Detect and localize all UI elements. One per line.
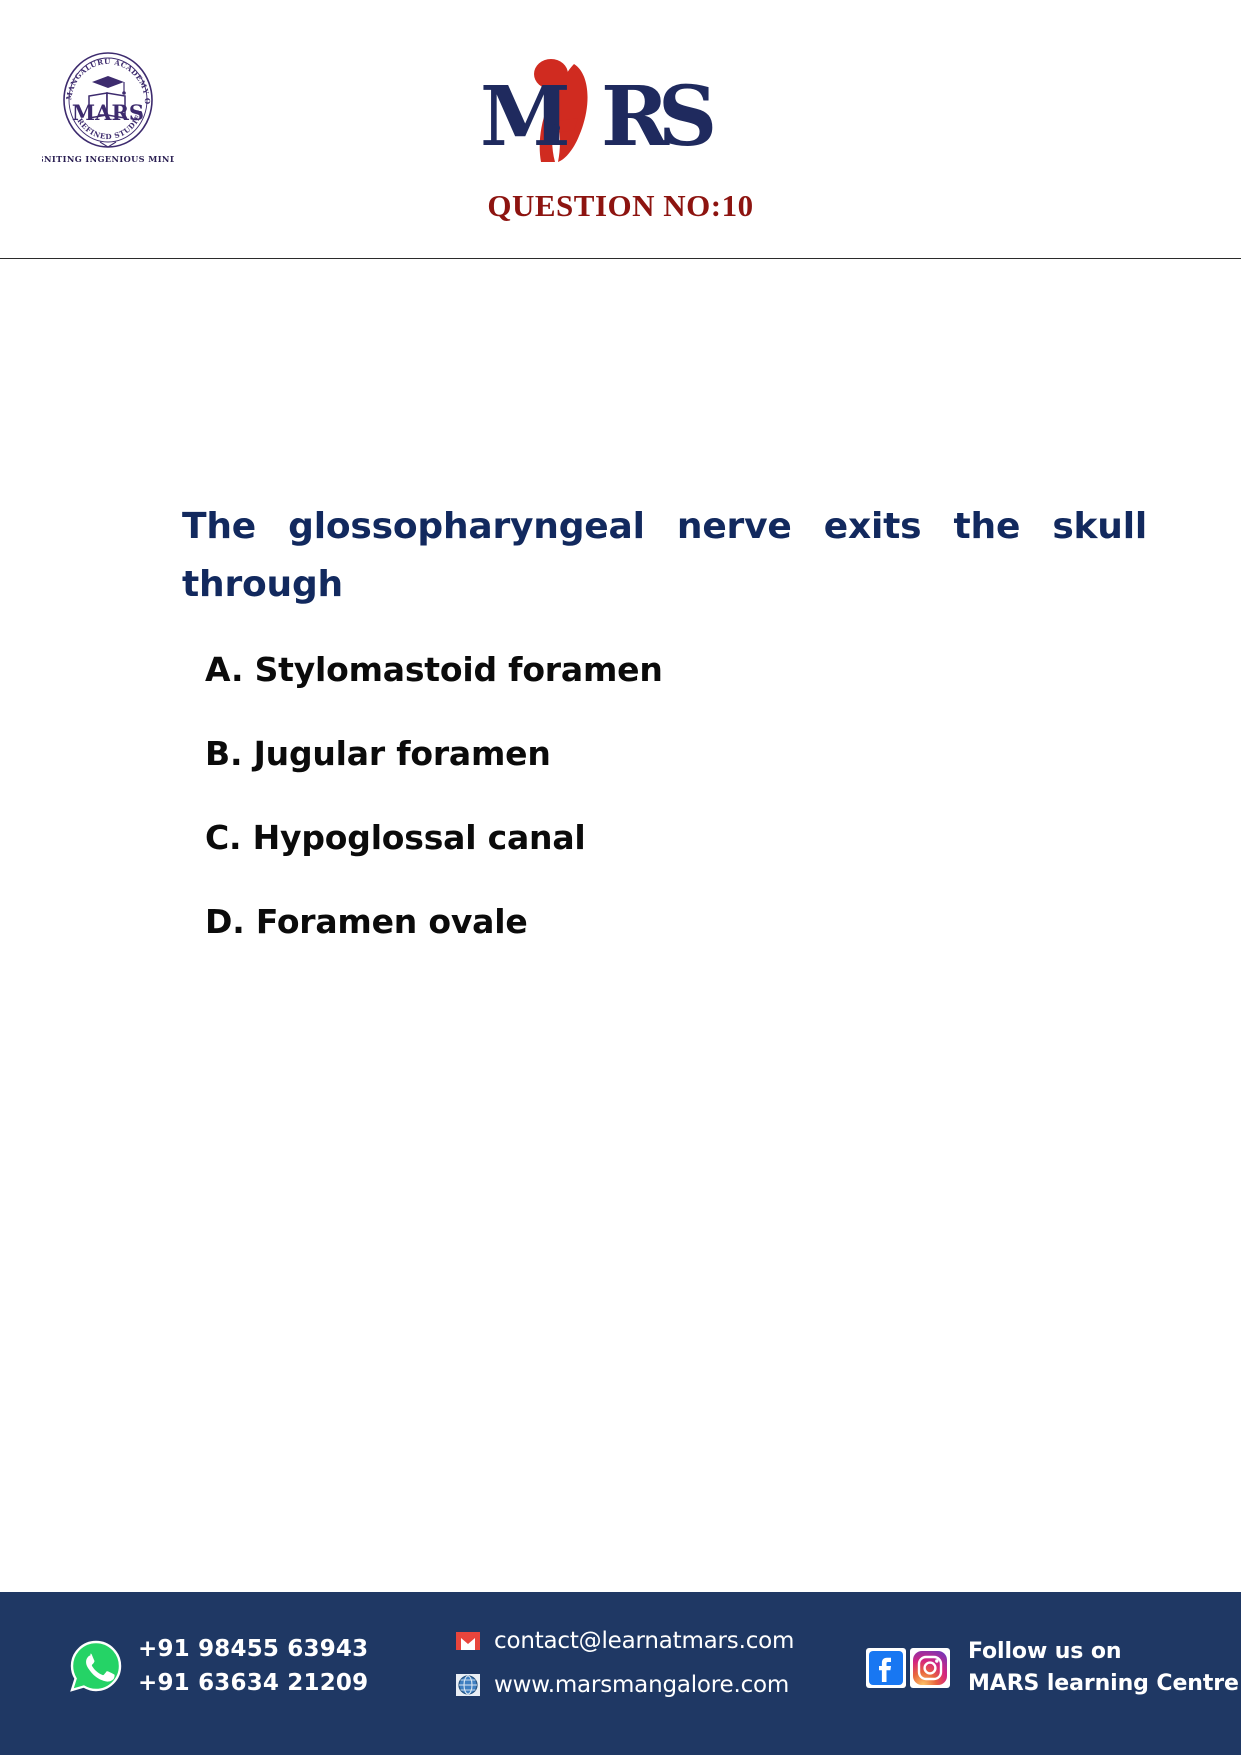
options-list: A. Stylomastoid foramen B. Jugular foram… [205, 650, 1105, 941]
footer-email-text: contact@learnatmars.com [494, 1628, 794, 1654]
phone-number-1: +91 98455 63943 [138, 1636, 368, 1662]
footer-contact-block: contact@learnatmars.com www.marsmangalor… [455, 1628, 794, 1698]
footer-phone-block: +91 98455 63943 +91 63634 21209 [70, 1632, 368, 1700]
option-c[interactable]: C. Hypoglossal canal [205, 818, 1105, 857]
footer-website-row[interactable]: www.marsmangalore.com [455, 1672, 794, 1698]
whatsapp-icon [70, 1640, 122, 1692]
page-footer: +91 98455 63943 +91 63634 21209 contact@… [0, 1592, 1241, 1755]
follow-line-1: Follow us on [968, 1639, 1121, 1664]
follow-us-text: Follow us on MARS learning Centre [968, 1636, 1239, 1700]
mars-wordmark-logo: M R S [478, 50, 713, 165]
academy-seal-icon: MANGALURU ACADEMY OF REFINED STUDIES MAR… [42, 48, 174, 168]
svg-text:MARS: MARS [72, 100, 144, 125]
header-divider [0, 258, 1241, 259]
follow-line-2: MARS learning Centre [968, 1671, 1239, 1696]
instagram-icon[interactable] [910, 1645, 950, 1691]
page-header: MANGALURU ACADEMY OF REFINED STUDIES MAR… [0, 0, 1241, 258]
option-b[interactable]: B. Jugular foramen [205, 734, 1105, 773]
social-icons-group [866, 1645, 950, 1691]
question-number: QUESTION NO:10 [0, 188, 1241, 224]
phone-numbers: +91 98455 63943 +91 63634 21209 [138, 1632, 368, 1700]
facebook-icon[interactable] [866, 1645, 906, 1691]
gmail-icon [455, 1628, 481, 1654]
option-a[interactable]: A. Stylomastoid foramen [205, 650, 1105, 689]
footer-social-block: Follow us on MARS learning Centre [866, 1636, 1239, 1700]
svg-text:IGNITING INGENIOUS MINDS: IGNITING INGENIOUS MINDS [42, 154, 174, 164]
footer-website-text: www.marsmangalore.com [494, 1672, 789, 1698]
question-text: The glossopharyngeal nerve exits the sku… [182, 498, 1147, 673]
phone-number-2: +91 63634 21209 [138, 1670, 368, 1696]
question-body: The glossopharyngeal nerve exits the sku… [182, 498, 1147, 673]
globe-icon [455, 1672, 481, 1698]
svg-text:M: M [480, 69, 571, 165]
svg-text:S: S [658, 69, 713, 165]
footer-email-row[interactable]: contact@learnatmars.com [455, 1628, 794, 1654]
option-d[interactable]: D. Foramen ovale [205, 902, 1105, 941]
